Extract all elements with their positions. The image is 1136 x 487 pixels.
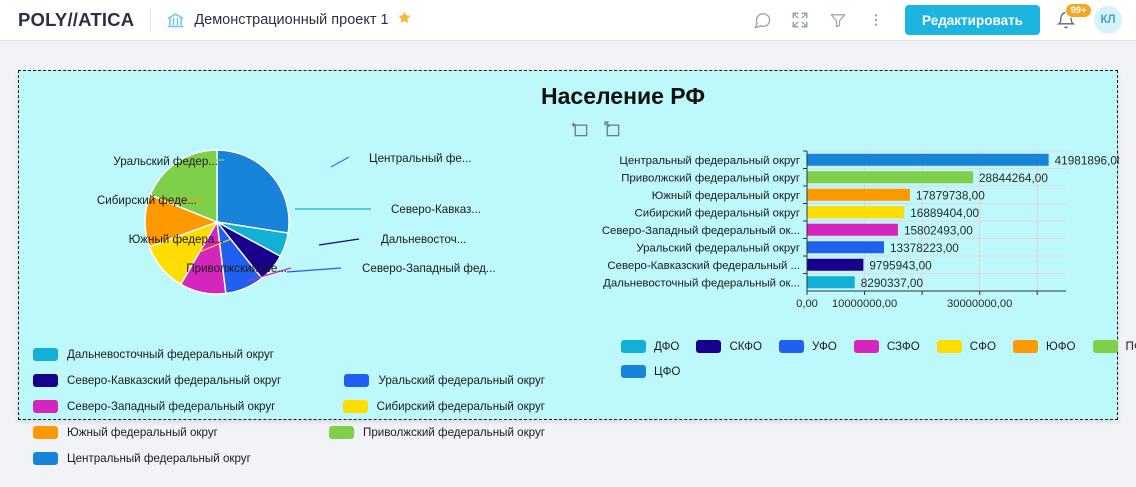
legend-swatch	[33, 400, 58, 413]
pie-label: Приволжский фе...	[186, 262, 287, 275]
legend-item[interactable]: ДФО	[621, 340, 679, 353]
pie-leader-line	[319, 239, 359, 245]
bar[interactable]	[807, 171, 973, 183]
pie-label: Южный федера...	[129, 233, 224, 246]
legend-label: Южный федеральный округ	[67, 426, 218, 439]
bar[interactable]	[807, 241, 884, 253]
comment-icon[interactable]	[743, 1, 781, 39]
bar-value-label: 8290337,00	[861, 276, 924, 290]
legend-label: Дальневосточный федеральный округ	[67, 348, 274, 361]
legend-label: Северо-Западный федеральный округ	[67, 400, 275, 413]
bar-category-label: Южный федеральный округ	[652, 190, 800, 202]
bar-value-label: 9795943,00	[869, 258, 932, 272]
legend-item[interactable]: СФО	[937, 340, 996, 353]
legend-row: Северо-Кавказский федеральный округУраль…	[33, 367, 563, 393]
legend-swatch	[33, 426, 58, 439]
pie-chart[interactable]: Центральный фе...Северо-Кавказ...Дальнев…	[19, 119, 564, 344]
edit-button[interactable]: Редактировать	[905, 5, 1040, 35]
legend-swatch	[621, 365, 646, 378]
bar-category-label: Приволжский федеральный округ	[621, 172, 800, 184]
legend-swatch	[33, 348, 58, 361]
legend-label: Уральский федеральный округ	[378, 374, 545, 387]
bar-category-label: Северо-Западный федеральный ок...	[602, 225, 800, 237]
fullscreen-icon[interactable]	[781, 1, 819, 39]
bank-icon	[166, 11, 185, 30]
legend-label: ЮФО	[1046, 340, 1076, 353]
legend-label: СКФО	[729, 340, 762, 353]
bar-value-label: 41981896,00	[1055, 153, 1119, 167]
bar[interactable]	[807, 154, 1049, 166]
brand-logo[interactable]: POLY//ATICA	[18, 9, 134, 31]
legend-row: Южный федеральный округПриволжский федер…	[33, 419, 563, 445]
legend-item[interactable]: Северо-Западный федеральный округ	[33, 400, 275, 413]
legend-swatch	[329, 426, 354, 439]
legend-label: ДФО	[654, 340, 679, 353]
legend-item[interactable]: Северо-Кавказский федеральный округ	[33, 374, 281, 387]
legend-label: Центральный федеральный округ	[67, 452, 251, 465]
legend-item[interactable]: Южный федеральный округ	[33, 426, 218, 439]
x-tick-label: 30000000,00	[947, 298, 1012, 310]
legend-swatch	[344, 374, 369, 387]
legend-swatch	[1093, 340, 1118, 353]
bar-legend[interactable]: ДФОСКФОУФОСЗФОСФОЮФОПФОЦФО	[621, 334, 1121, 384]
bar[interactable]	[807, 206, 904, 218]
legend-label: УФО	[812, 340, 837, 353]
legend-label: СФО	[970, 340, 996, 353]
legend-item[interactable]: Уральский федеральный округ	[344, 374, 545, 387]
bar[interactable]	[807, 259, 863, 271]
reset-zoom-icon[interactable]	[602, 119, 623, 140]
legend-swatch	[33, 452, 58, 465]
pie-chart-widget[interactable]: Центральный фе...Северо-Кавказ...Дальнев…	[19, 119, 564, 419]
bar[interactable]	[807, 189, 910, 201]
legend-swatch	[854, 340, 879, 353]
bar[interactable]	[807, 276, 855, 288]
bar-chart[interactable]: Центральный федеральный округПриволжский…	[564, 147, 1119, 337]
pie-leader-line	[331, 157, 349, 167]
legend-swatch	[779, 340, 804, 353]
bar-category-label: Сибирский федеральный округ	[635, 207, 800, 219]
legend-label: Северо-Кавказский федеральный округ	[67, 374, 281, 387]
project-title: Демонстрационный проект 1	[194, 12, 388, 28]
dashboard-title: Население РФ	[19, 83, 1117, 110]
dashboard-panel[interactable]: Население РФ Центральный фе...Северо-Кав…	[18, 70, 1118, 420]
legend-item[interactable]: ЮФО	[1013, 340, 1076, 353]
notifications-button[interactable]: 99+	[1056, 7, 1080, 33]
pie-slice[interactable]	[217, 150, 289, 233]
legend-item[interactable]: СЗФО	[854, 340, 920, 353]
notification-badge: 99+	[1065, 3, 1092, 18]
legend-label: ЦФО	[654, 365, 680, 378]
bar-value-label: 17879738,00	[916, 188, 985, 202]
bar-value-label: 28844264,00	[979, 171, 1048, 185]
x-tick-label: 0,00	[796, 298, 818, 310]
app-header: POLY//ATICA Демонстрационный проект 1	[0, 0, 1136, 41]
legend-item[interactable]: СКФО	[696, 340, 762, 353]
legend-item[interactable]: Сибирский федеральный округ	[343, 400, 545, 413]
legend-row: Центральный федеральный округ	[33, 445, 563, 471]
pie-label: Сибирский феде...	[97, 194, 197, 207]
pie-label: Дальневосточ...	[381, 233, 466, 246]
filter-icon[interactable]	[819, 1, 857, 39]
pie-label: Уральский федер...	[113, 155, 218, 168]
bar-chart-widget[interactable]: Центральный федеральный округПриволжский…	[564, 119, 1119, 419]
pie-label: Центральный фе...	[369, 152, 472, 165]
header-divider	[150, 8, 151, 32]
legend-row: Северо-Западный федеральный округСибирск…	[33, 393, 563, 419]
legend-item[interactable]: ПФО	[1093, 340, 1136, 353]
legend-label: СЗФО	[887, 340, 920, 353]
bar-value-label: 13378223,00	[890, 241, 959, 255]
bar-category-label: Центральный федеральный округ	[619, 155, 800, 167]
legend-item[interactable]: УФО	[779, 340, 837, 353]
bar-category-label: Уральский федеральный округ	[636, 242, 800, 254]
bar-category-label: Северо-Кавказский федеральный ...	[607, 260, 800, 272]
legend-swatch	[696, 340, 721, 353]
kebab-menu-icon[interactable]	[857, 1, 895, 39]
header-actions: Редактировать 99+ КЛ	[743, 1, 1136, 39]
legend-item[interactable]: ЦФО	[621, 365, 680, 378]
legend-label: Приволжский федеральный округ	[363, 426, 545, 439]
x-tick-label: 10000000,00	[832, 298, 897, 310]
legend-row: ЦФО	[621, 359, 1121, 384]
bar-x-tick-labels: 0,0010000000,0030000000,00	[796, 298, 1012, 310]
legend-swatch	[621, 340, 646, 353]
bar-value-label: 15802493,00	[904, 223, 973, 237]
legend-swatch	[343, 400, 368, 413]
legend-item[interactable]: Центральный федеральный округ	[33, 452, 251, 465]
bar[interactable]	[807, 224, 898, 236]
legend-swatch	[33, 374, 58, 387]
legend-item[interactable]: Приволжский федеральный округ	[329, 426, 545, 439]
pie-leader-line	[287, 268, 341, 272]
crop-select-icon[interactable]	[570, 119, 591, 140]
legend-label: ПФО	[1126, 340, 1136, 353]
pie-label: Северо-Кавказ...	[391, 203, 481, 216]
bar-chart-toolbar[interactable]	[570, 119, 623, 140]
bar-value-label: 16889404,00	[910, 206, 979, 220]
bar-category-label: Дальневосточный федеральный ок...	[603, 277, 800, 289]
legend-swatch	[937, 340, 962, 353]
pie-legend[interactable]: Дальневосточный федеральный округСеверо-…	[33, 341, 563, 471]
bar-category-labels: Центральный федеральный округПриволжский…	[602, 155, 800, 290]
legend-row: ДФОСКФОУФОСЗФОСФОЮФОПФО	[621, 334, 1121, 359]
legend-label: Сибирский федеральный округ	[377, 400, 545, 413]
avatar[interactable]: КЛ	[1094, 6, 1122, 34]
star-icon[interactable]	[397, 10, 412, 30]
legend-swatch	[1013, 340, 1038, 353]
legend-item[interactable]: Дальневосточный федеральный округ	[33, 348, 274, 361]
pie-label: Северо-Западный фед...	[362, 262, 496, 275]
legend-row: Дальневосточный федеральный округ	[33, 341, 563, 367]
